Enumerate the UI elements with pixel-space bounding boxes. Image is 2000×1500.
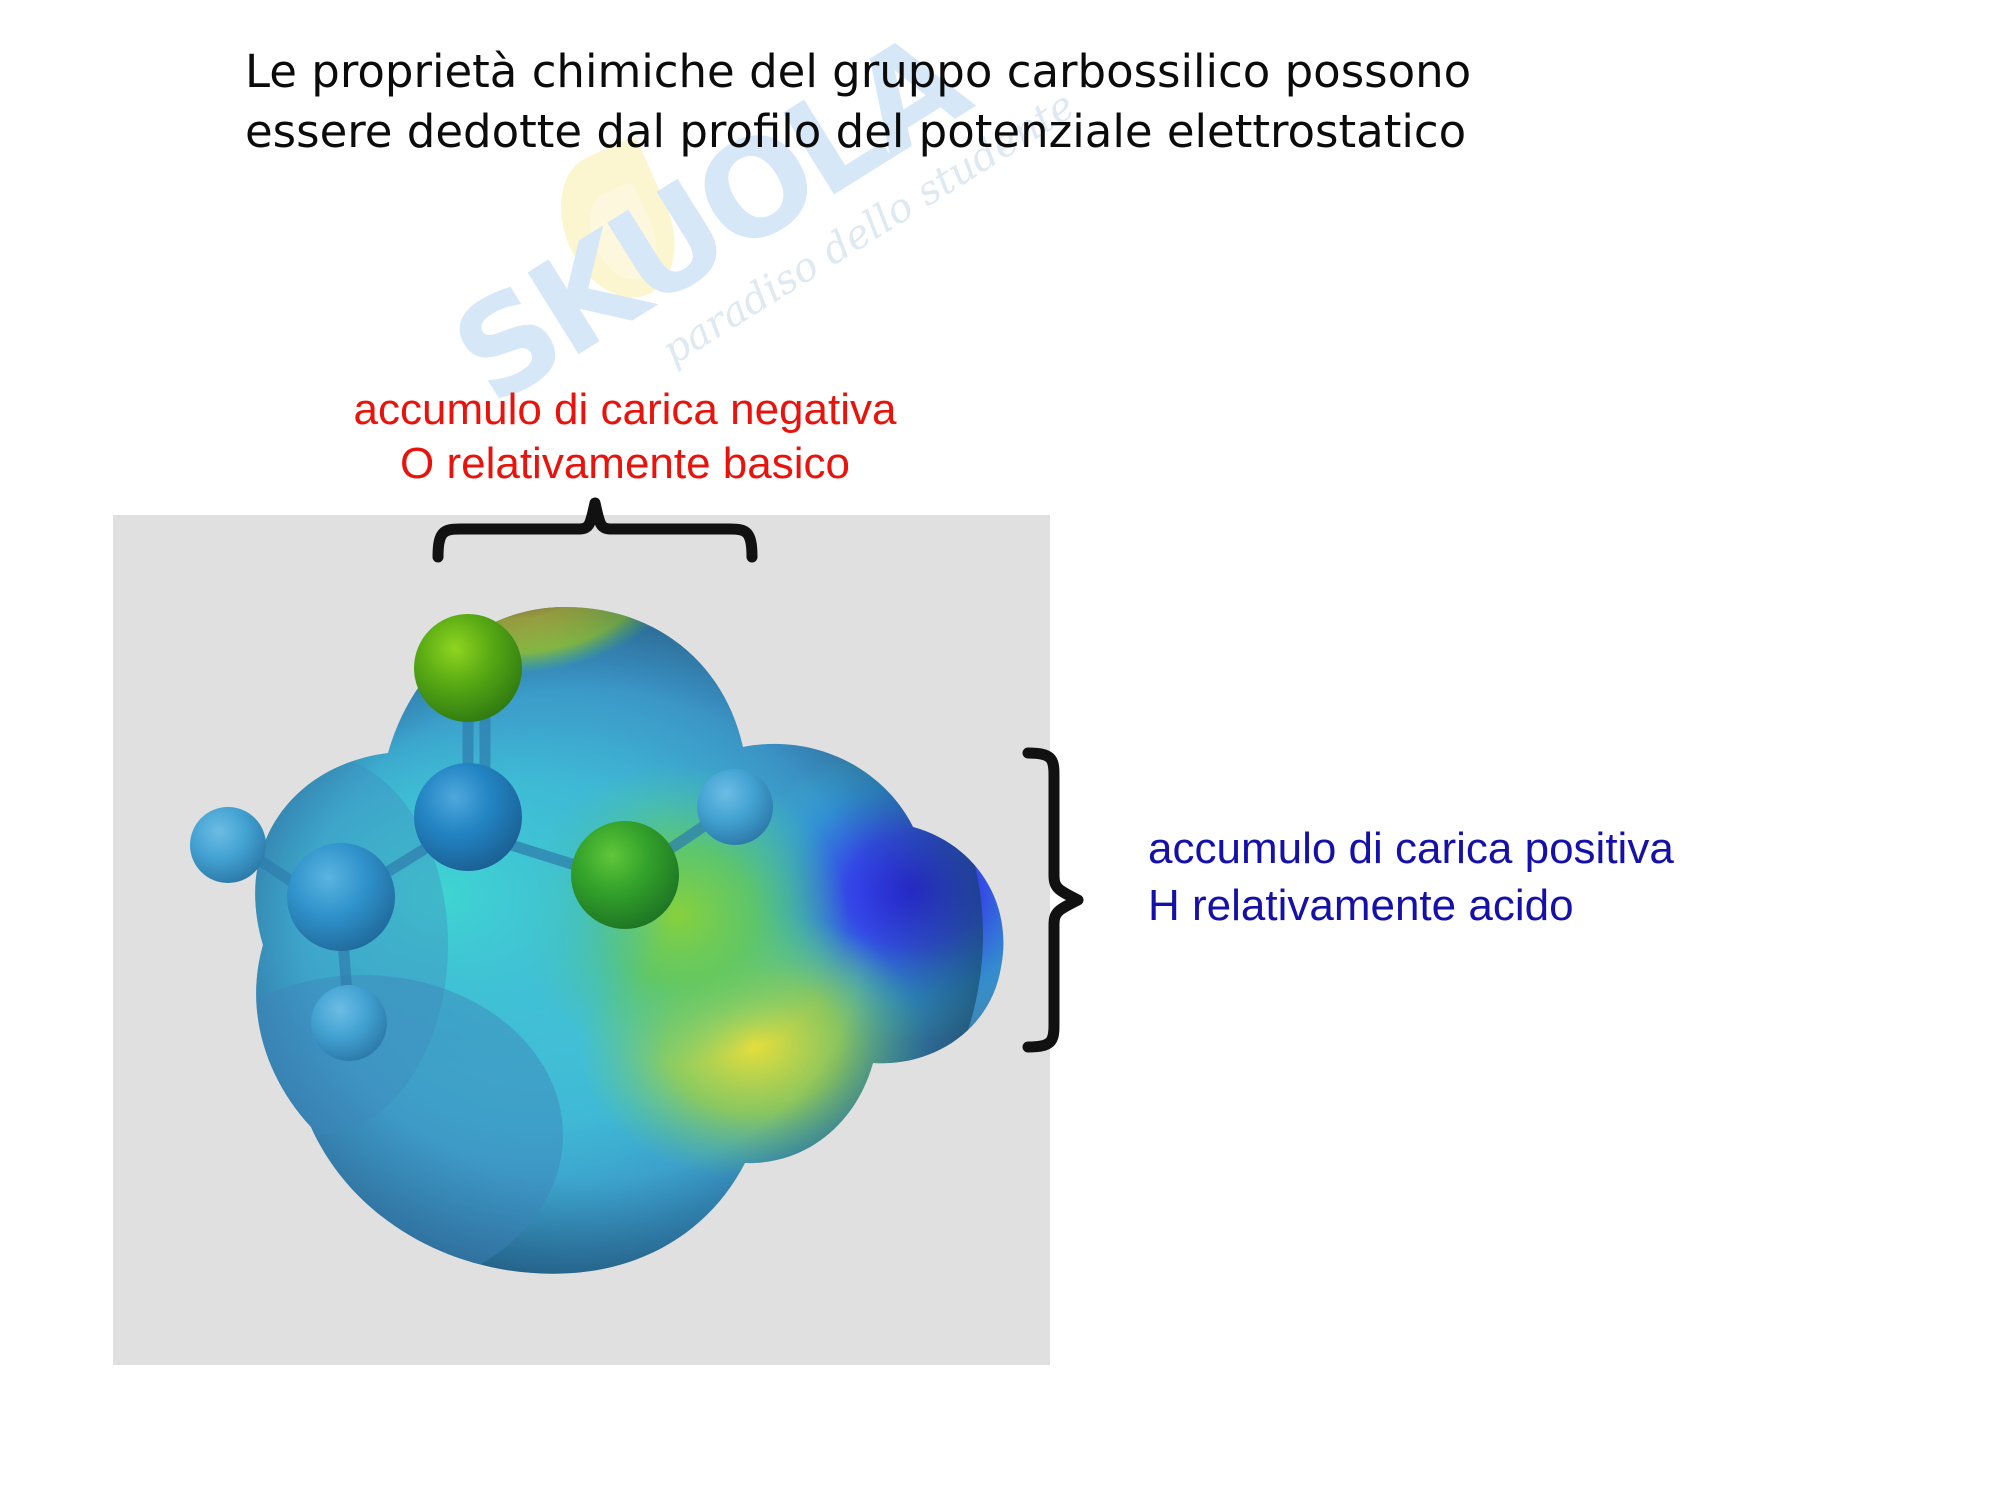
atom-carbon-carboxyl	[414, 763, 522, 871]
atom-oxygen-carbonyl	[414, 614, 522, 722]
top-brace-path	[438, 503, 752, 557]
negative-charge-annotation: accumulo di carica negativa O relativame…	[275, 383, 975, 490]
title-word: del	[749, 42, 818, 102]
watermark-flame-icon	[539, 136, 696, 316]
title-word: possono	[1285, 42, 1472, 102]
negative-annotation-line-1: accumulo di carica negativa	[275, 383, 975, 437]
negative-annotation-line-2: O relativamente basico	[275, 437, 975, 491]
positive-charge-annotation: accumulo di carica positiva H relativame…	[1148, 820, 1674, 934]
title-word: Le	[245, 42, 297, 102]
electrostatic-potential-figure	[113, 515, 1050, 1365]
right-brace	[1018, 745, 1088, 1055]
title-word: carbossilico	[1007, 42, 1271, 102]
atom-hydrogen-acidic	[697, 769, 773, 845]
title-word: gruppo	[832, 42, 992, 102]
positive-annotation-line-1: accumulo di carica positiva	[1148, 820, 1674, 877]
slide-title: Le proprietà chimiche del gruppo carboss…	[245, 42, 1405, 162]
atom-hydrogen-methyl-a	[190, 807, 266, 883]
molecule-surface-graphic	[113, 515, 1050, 1365]
slide-title-line-1: Le proprietà chimiche del gruppo carboss…	[245, 42, 1405, 102]
atom-oxygen-hydroxyl	[571, 821, 679, 929]
title-word: proprietà	[311, 42, 517, 102]
atom-hydrogen-methyl-b	[311, 985, 387, 1061]
positive-annotation-line-2: H relativamente acido	[1148, 877, 1674, 934]
watermark-flame-inner-icon	[577, 181, 669, 289]
slide-title-line-2: essere dedotte dal profilo del potenzial…	[245, 102, 1405, 162]
atom-carbon-methyl	[287, 843, 395, 951]
top-brace	[430, 495, 760, 565]
right-brace-path	[1028, 753, 1078, 1047]
title-word: chimiche	[532, 42, 735, 102]
